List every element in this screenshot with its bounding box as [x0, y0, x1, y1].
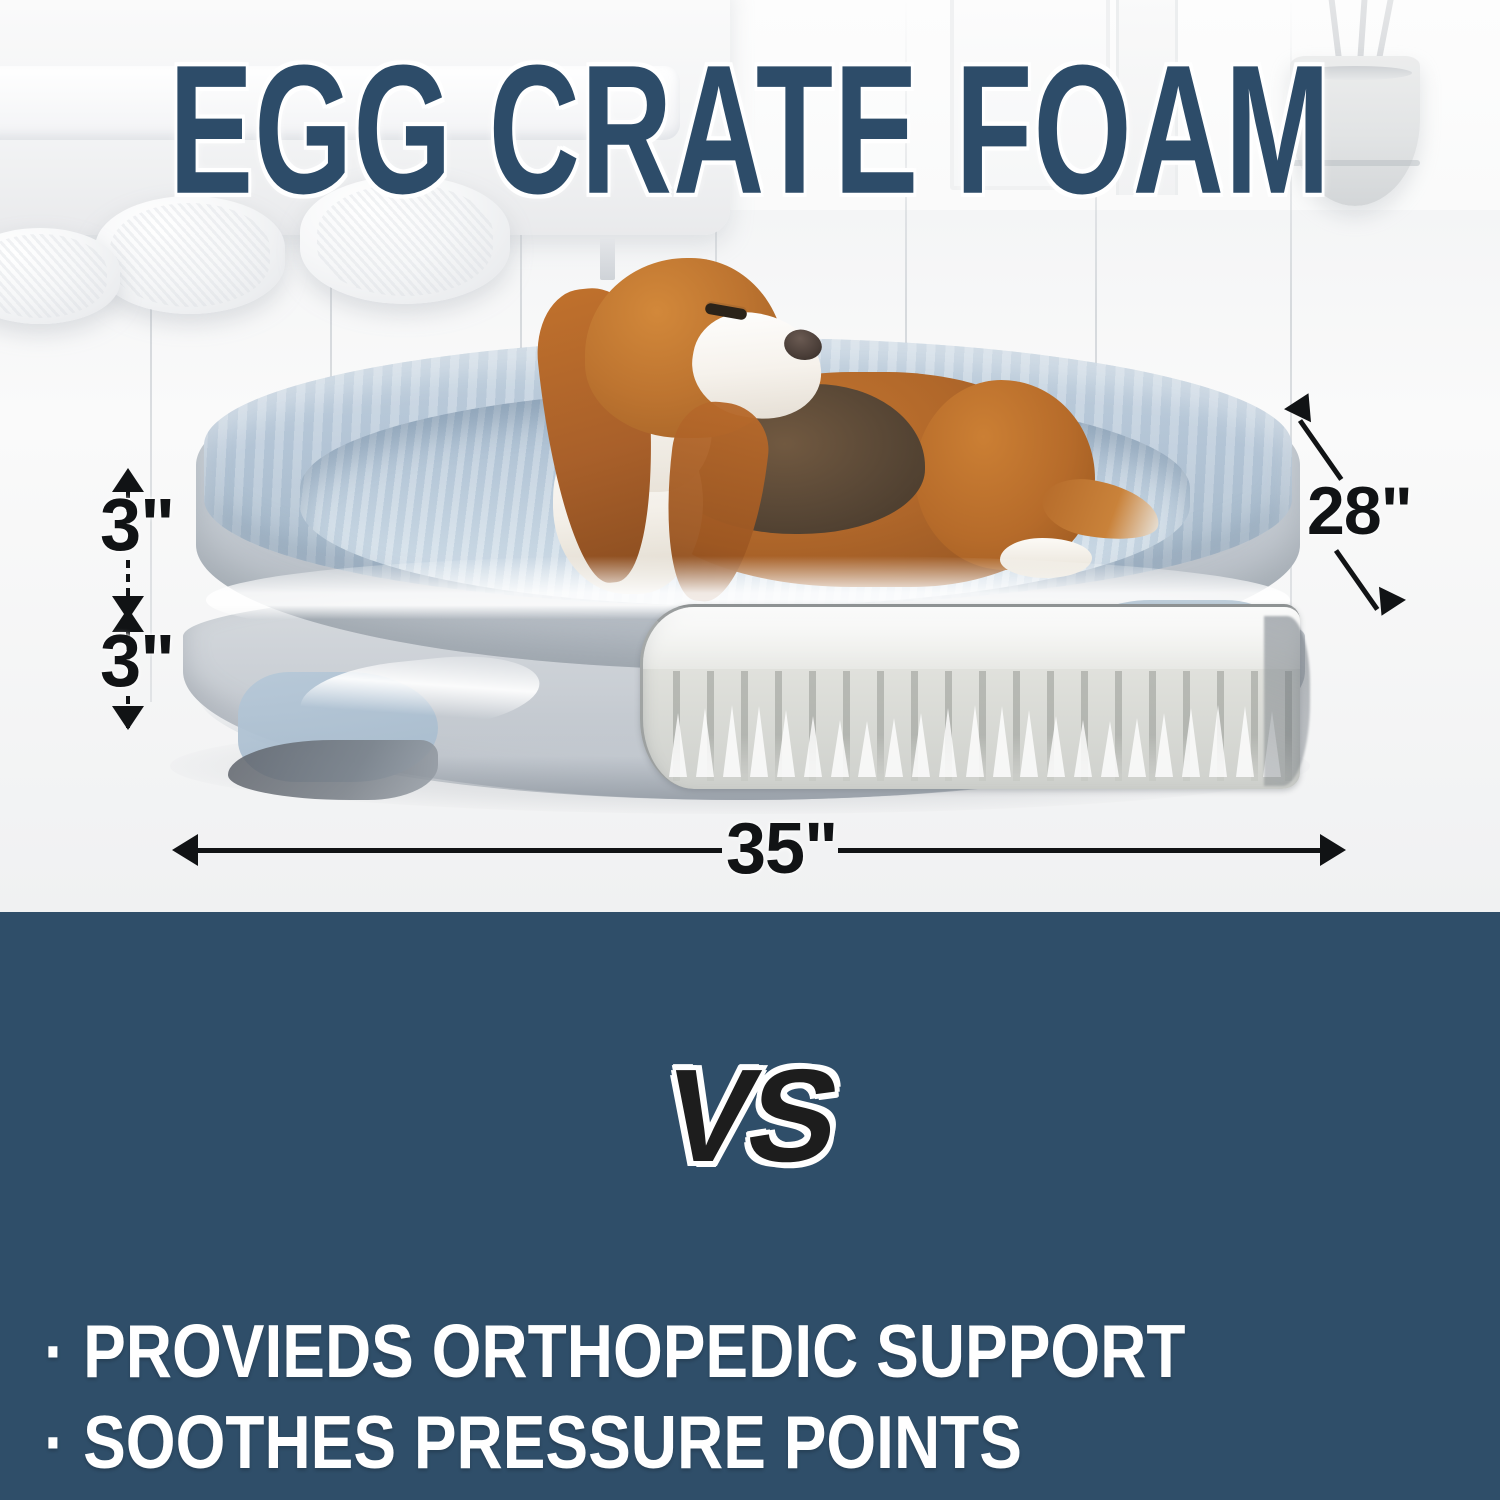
hero-section: EGG CRATE FOAM: [0, 0, 1500, 912]
dimension-label-bolster-height: 3": [100, 482, 174, 567]
dog: [370, 252, 1150, 597]
foam-triangle: [696, 708, 714, 777]
foam-triangle: [1020, 710, 1038, 777]
page-title: EGG CRATE FOAM: [38, 34, 1463, 229]
foam-triangle: [1128, 718, 1146, 777]
foam-triangle: [1236, 706, 1254, 777]
foam-triangle: [993, 706, 1011, 777]
product-infographic: EGG CRATE FOAM: [0, 0, 1500, 1500]
foam-triangle: [1074, 720, 1092, 777]
foam-cutaway: [640, 604, 1300, 789]
dimension-label-width: 35": [726, 808, 837, 890]
bed-nonslip-bottom: [228, 740, 438, 800]
foam-triangle: [1101, 721, 1119, 777]
foam-triangle: [777, 710, 795, 777]
benefit-item: · SOOTHES PRESSURE POINTS: [44, 1389, 1464, 1496]
foam-triangle: [723, 705, 741, 777]
foam-triangle: [1047, 716, 1065, 777]
foam-triangle: [1182, 708, 1200, 777]
foam-triangle: [939, 708, 957, 777]
foam-triangle: [831, 720, 849, 777]
vs-label: VS: [655, 1050, 844, 1182]
foam-triangle: [885, 718, 903, 777]
dimension-label-depth: 28": [1307, 472, 1412, 550]
foam-triangle: [966, 705, 984, 777]
foam-surface: [643, 607, 1300, 669]
foam-triangle: [1155, 713, 1173, 777]
foam-triangle: [1209, 705, 1227, 777]
foam-triangle: [669, 713, 687, 777]
foam-triangle: [750, 706, 768, 777]
foam-triangle: [858, 721, 876, 777]
foam-triangle: [912, 713, 930, 777]
foam-triangle: [804, 716, 822, 777]
dimension-label-base-height: 3": [100, 618, 174, 703]
benefits-list: · PROVIEDS ORTHOPEDIC SUPPORT · SOOTHES …: [44, 1298, 1464, 1480]
